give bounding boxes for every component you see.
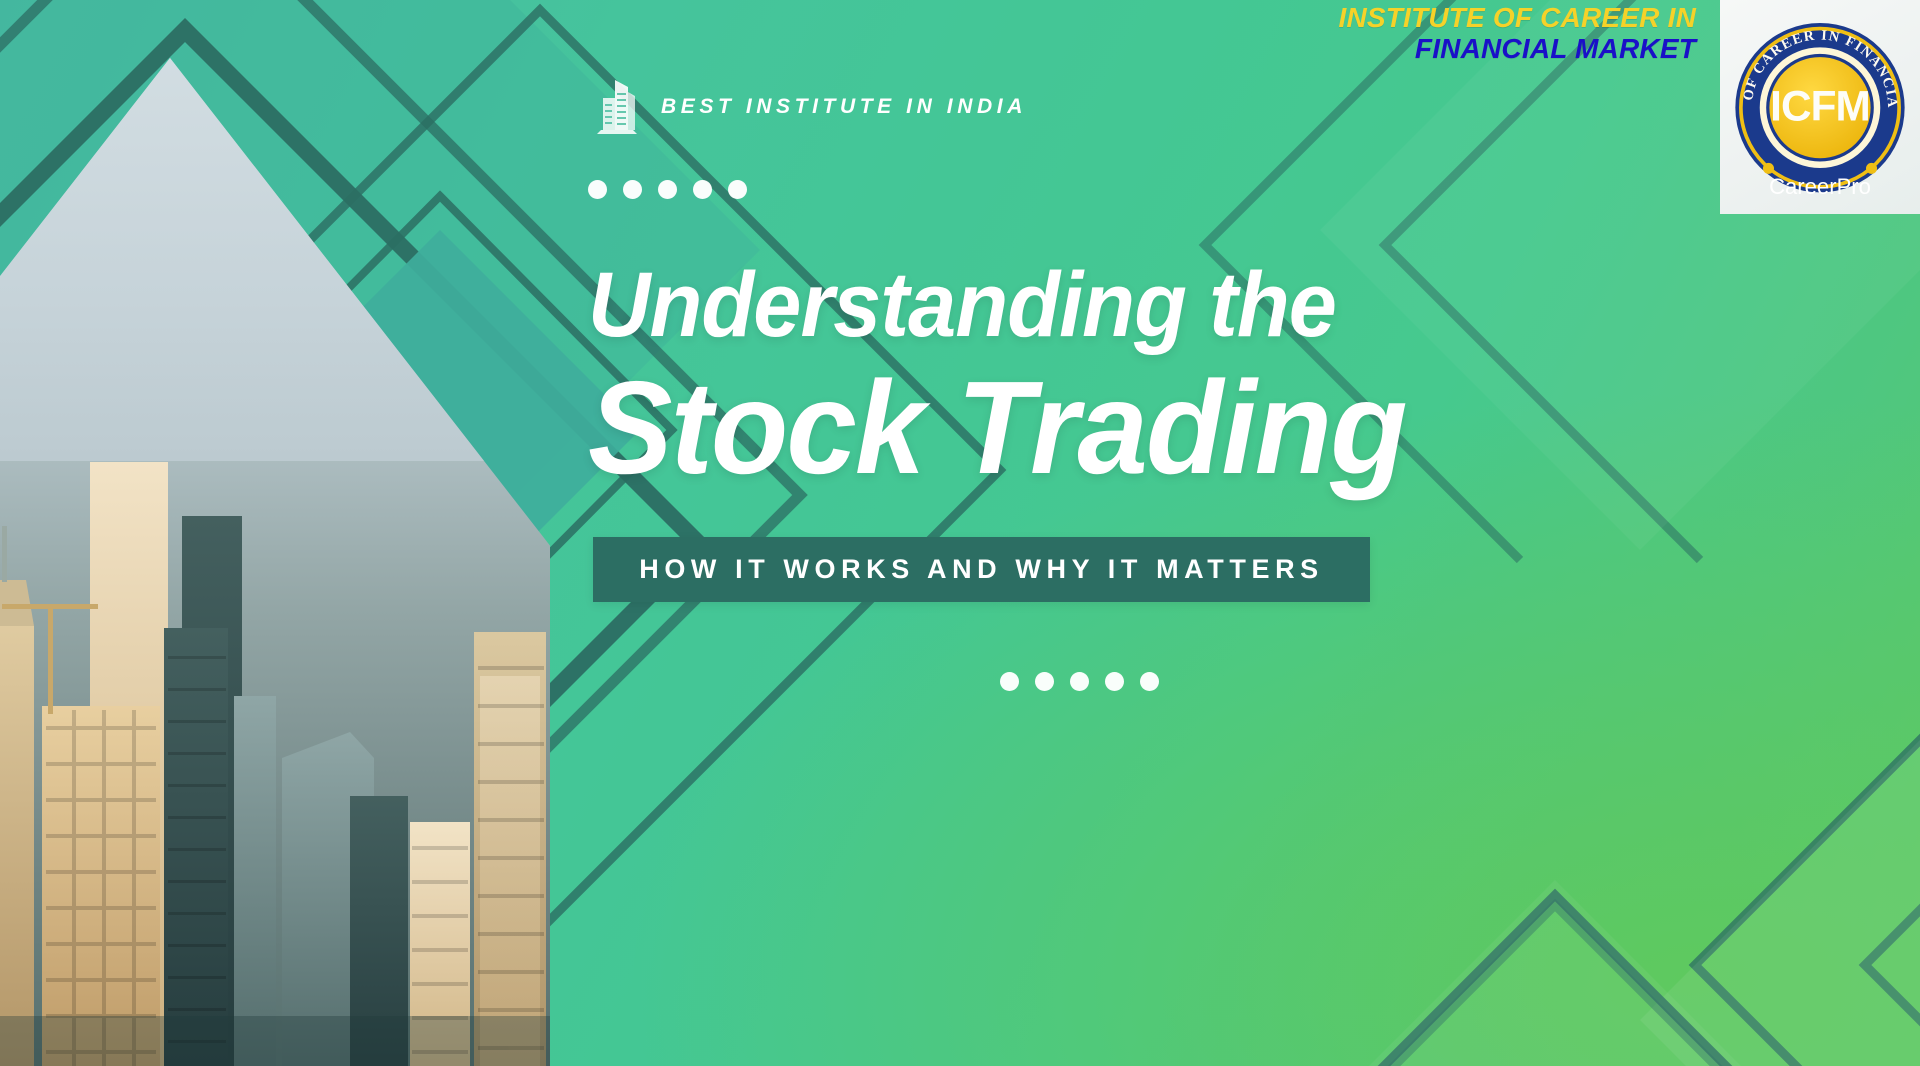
brand-line-1: INSTITUTE OF CAREER IN <box>1338 2 1696 33</box>
dot <box>588 180 607 199</box>
dot <box>623 180 642 199</box>
page-title: Understanding the Stock Trading <box>588 260 1618 494</box>
building-icon <box>595 78 639 136</box>
dot <box>1140 672 1159 691</box>
dot <box>728 180 747 199</box>
title-line-1: Understanding the <box>588 260 1556 350</box>
dot <box>1105 672 1124 691</box>
dot <box>658 180 677 199</box>
dot <box>1000 672 1019 691</box>
dot <box>1070 672 1089 691</box>
brand-wordmark: INSTITUTE OF CAREER IN FINANCIAL MARKET <box>1338 2 1696 65</box>
city-skyline-photo <box>0 58 550 1066</box>
logo-panel: INSTITUTE OF CAREER IN FINANCIAL MARKET … <box>1720 0 1920 214</box>
dot <box>1035 672 1054 691</box>
subtitle-label: HOW IT WORKS AND WHY IT MATTERS <box>639 554 1324 585</box>
eyebrow-label: BEST INSTITUTE IN INDIA <box>661 95 1027 119</box>
dots-decoration-bottom <box>1000 672 1159 691</box>
badge-tagline: CareerPro <box>1769 174 1871 199</box>
brand-line-2: FINANCIAL MARKET <box>1338 33 1696 64</box>
dots-decoration-top <box>588 180 747 199</box>
subtitle-bar: HOW IT WORKS AND WHY IT MATTERS <box>593 537 1370 602</box>
badge-monogram: ICFM <box>1770 83 1870 130</box>
eyebrow-row: BEST INSTITUTE IN INDIA <box>595 78 1027 136</box>
icfm-logo-badge[interactable]: INSTITUTE OF CAREER IN FINANCIAL MARKET … <box>1728 4 1912 204</box>
presentation-slide: INSTITUTE OF CAREER IN FINANCIAL MARKET … <box>0 0 1920 1066</box>
dot <box>693 180 712 199</box>
skyline-illustration <box>0 376 550 1066</box>
title-line-2: Stock Trading <box>588 362 1577 494</box>
photo-diamond-mask <box>0 58 550 1066</box>
